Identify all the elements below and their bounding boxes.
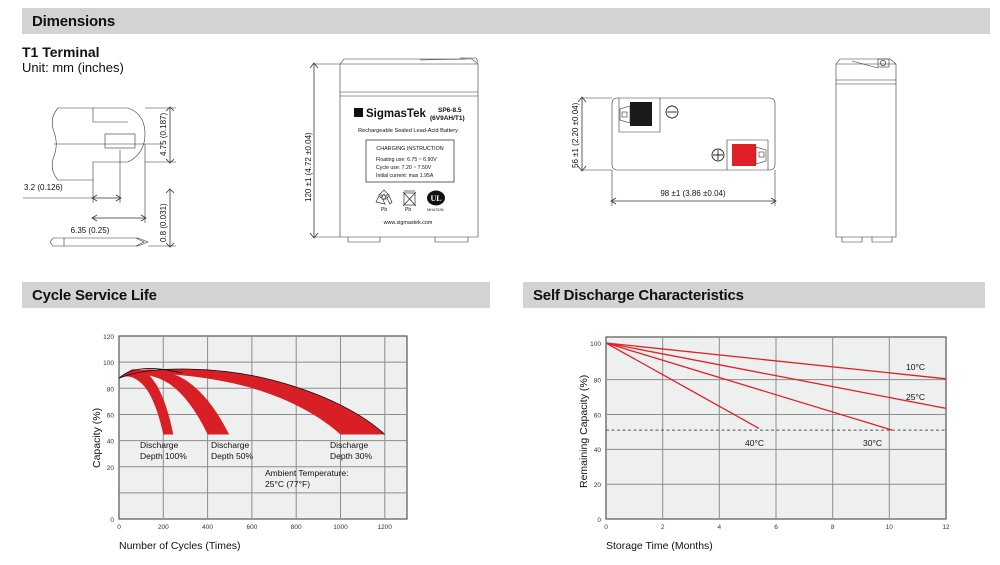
terminal-type-block: T1 Terminal Unit: mm (inches) [22, 44, 124, 76]
annot-dod-100-line2: Depth 100% [140, 451, 187, 461]
section-header-self-discharge: Self Discharge Characteristics [523, 282, 985, 308]
chart-cycle-service-life: 120 100 80 60 40 20 0 0 200 400 600 800 … [22, 318, 492, 558]
chart-self-discharge: 100 80 60 40 20 0 0 2 4 6 8 10 12 10°C 2… [523, 318, 993, 558]
cycle-ytick-120: 120 [103, 334, 114, 341]
dimension-terminal-slot-width: 3.2 (0.126) [23, 150, 121, 203]
dimension-text-width: 6.35 (0.25) [71, 226, 110, 235]
recycle-pb-icon: Pb [376, 190, 392, 213]
cycle-ytick-0: 0 [110, 517, 114, 524]
svg-text:UL: UL [430, 194, 441, 203]
cycle-xtick-400: 400 [202, 524, 213, 531]
section-header-cycle-service-life: Cycle Service Life [22, 282, 490, 308]
cycle-xtick-0: 0 [117, 524, 121, 531]
dimension-terminal-thickness: 0.8 (0.031) [148, 189, 176, 247]
cycle-xtick-1000: 1000 [333, 524, 348, 531]
self-ytick-0: 0 [597, 517, 601, 524]
dimension-text-thickness: 0.8 (0.031) [159, 203, 168, 242]
self-xtick-10: 10 [886, 524, 894, 531]
charging-line-2: Cycle use: 7.20 ~ 7.50V [376, 165, 432, 171]
datasheet-page: Dimensions Cycle Service Life Self Disch… [0, 0, 1000, 565]
self-y-axis: 100 80 60 40 20 0 [590, 341, 601, 524]
charging-line-3: Initial current: max 1.95A [376, 173, 434, 179]
terminal-type-title: T1 Terminal [22, 44, 124, 60]
dimension-text-slot-width: 3.2 (0.126) [24, 183, 63, 192]
series-label-10c: 10°C [906, 362, 925, 372]
no-trash-pb-icon: Pb [403, 191, 416, 213]
brand-mark-icon [354, 108, 363, 117]
terminal-profile-outline [52, 108, 163, 180]
self-x-axis: 0 2 4 6 8 10 12 [604, 524, 950, 531]
brand-name: SigmasTek [366, 108, 426, 120]
cycle-xtick-800: 800 [291, 524, 302, 531]
unit-note: Unit: mm (inches) [22, 60, 124, 76]
dimension-top-depth: 56 ±1 (2.20 ±0.04) [571, 97, 612, 171]
self-xtick-6: 6 [774, 524, 778, 531]
dimension-front-height: 120 ±1 (4.72 ±0.04) [304, 63, 340, 238]
battery-side-view [810, 52, 930, 242]
cycle-xtick-1200: 1200 [378, 524, 393, 531]
terminal-drawing: 4.75 (0.187) 3.2 (0.126) 6.35 (0.25) [18, 90, 198, 250]
dimension-text-top-depth: 56 ±1 (2.20 ±0.04) [571, 102, 580, 168]
self-xtick-0: 0 [604, 524, 608, 531]
cycle-y-axis-title: Capacity (%) [91, 408, 103, 468]
dimension-text-front-height: 120 ±1 (4.72 ±0.04) [304, 132, 313, 202]
label-tagline: Rechargeable Sealed Lead-Acid Battery [358, 128, 458, 134]
annot-dod-30-line1: Discharge [330, 440, 369, 450]
dimension-text-top-width: 98 ±1 (3.86 ±0.04) [660, 189, 726, 198]
cycle-xtick-600: 600 [246, 524, 257, 531]
battery-top-outline [612, 98, 775, 170]
cycle-ytick-80: 80 [107, 386, 115, 393]
annot-ambient-line1: Ambient Temperature: [265, 468, 348, 478]
battery-side-outline [836, 59, 896, 242]
label-website: www.sigmastek.com [383, 220, 433, 226]
ul-file-number: MH47028 [427, 208, 443, 212]
model-number: SP6-8.5 [438, 107, 462, 114]
cycle-xtick-200: 200 [158, 524, 169, 531]
self-ytick-80: 80 [594, 377, 602, 384]
series-label-40c: 40°C [745, 438, 764, 448]
cycle-x-axis-title: Number of Cycles (Times) [119, 540, 241, 552]
terminal-side-view [50, 238, 148, 246]
ul-mark-icon: UL MH47028 [427, 191, 445, 213]
model-spec: (6V9AH/T1) [430, 115, 465, 122]
cycle-ytick-60: 60 [107, 413, 115, 420]
section-header-dimensions: Dimensions [22, 8, 990, 34]
charging-line-1: Floating use: 6.75 ~ 6.90V [376, 157, 437, 163]
battery-top-view: 56 ±1 (2.20 ±0.04) [520, 60, 810, 250]
cycle-x-axis: 0 200 400 600 800 1000 1200 [117, 524, 392, 531]
self-ytick-40: 40 [594, 447, 602, 454]
self-xtick-8: 8 [831, 524, 835, 531]
battery-label: SigmasTek SP6-8.5 (6V9AH/T1) Rechargeabl… [354, 107, 465, 226]
series-label-25c: 25°C [906, 392, 925, 402]
self-xtick-4: 4 [717, 524, 721, 531]
self-ytick-60: 60 [594, 412, 602, 419]
cycle-ytick-100: 100 [103, 360, 114, 367]
section-title-dimensions: Dimensions [32, 13, 115, 30]
dimension-top-width: 98 ±1 (3.86 ±0.04) [611, 170, 776, 206]
series-label-30c: 30°C [863, 438, 882, 448]
self-xtick-12: 12 [942, 524, 950, 531]
dimension-text-height: 4.75 (0.187) [159, 113, 168, 156]
annot-ambient-line2: 25°C (77°F) [265, 479, 310, 489]
cycle-ytick-40: 40 [107, 439, 115, 446]
cycle-y-axis: 120 100 80 60 40 20 0 [103, 334, 114, 524]
cycle-ytick-20: 20 [107, 465, 115, 472]
annot-dod-30-line2: Depth 30% [330, 451, 372, 461]
annot-dod-50-line1: Discharge [211, 440, 250, 450]
no-trash-icon-caption: Pb [405, 207, 411, 213]
self-ytick-20: 20 [594, 482, 602, 489]
negative-terminal-block [630, 102, 652, 126]
annot-dod-100-line1: Discharge [140, 440, 179, 450]
annot-dod-50-line2: Depth 50% [211, 451, 253, 461]
positive-terminal-block [732, 144, 756, 166]
self-xtick-2: 2 [661, 524, 665, 531]
self-y-axis-title: Remaining Capacity (%) [578, 375, 590, 488]
charging-instruction-title: CHARGING INSTRUCTION [376, 146, 443, 152]
dimension-terminal-height: 4.75 (0.187) [145, 107, 176, 163]
self-x-axis-title: Storage Time (Months) [606, 540, 713, 552]
battery-front-view: 120 ±1 (4.72 ±0.04) SigmasTek SP [300, 52, 500, 252]
recycle-icon-caption: Pb [381, 207, 387, 213]
self-ytick-100: 100 [590, 341, 601, 348]
section-title-cycle-service-life: Cycle Service Life [32, 287, 157, 304]
section-title-self-discharge: Self Discharge Characteristics [533, 287, 744, 304]
